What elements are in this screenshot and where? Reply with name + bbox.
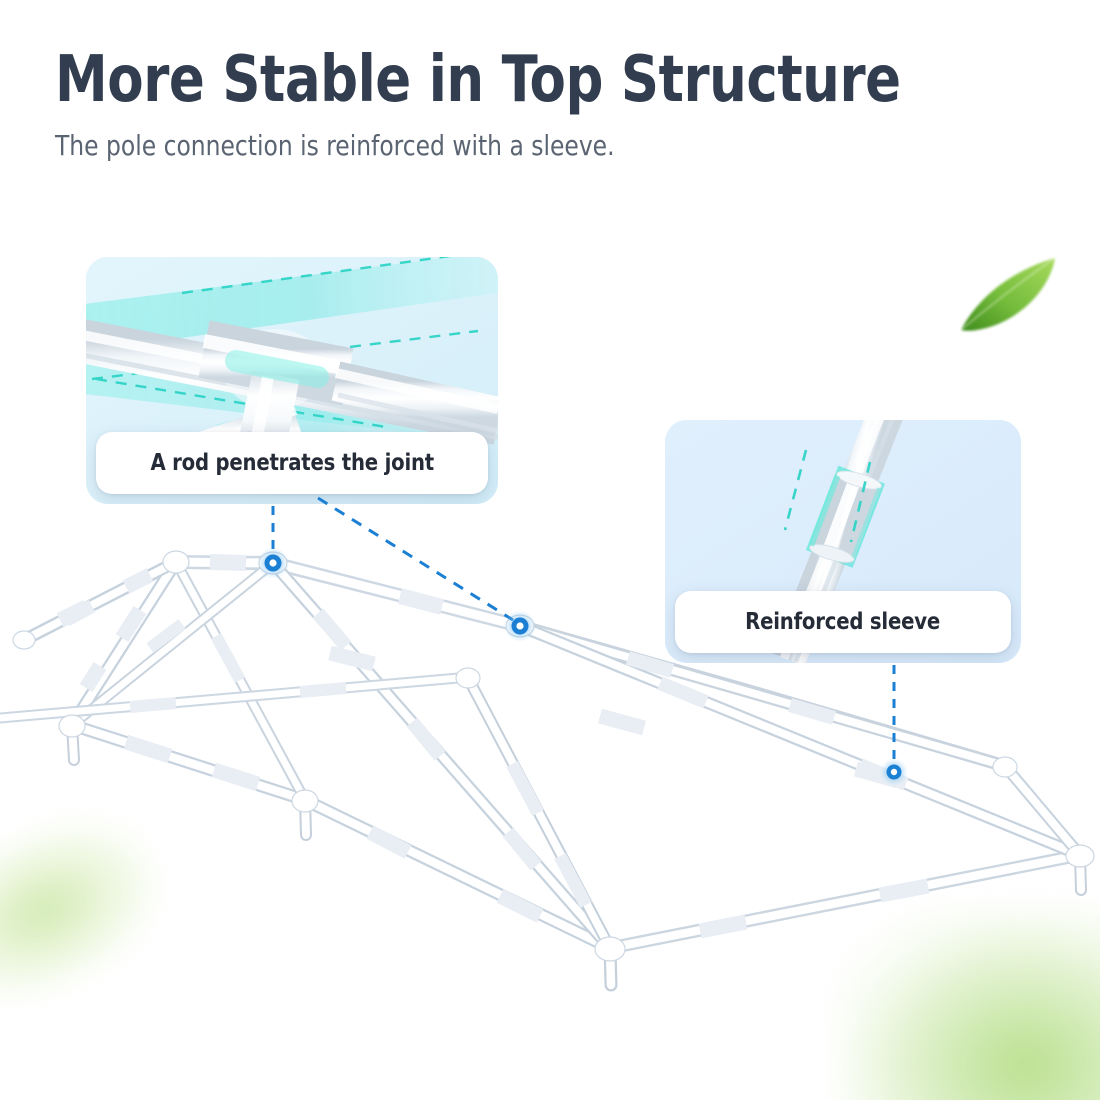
callout-label-sleeve: Reinforced sleeve xyxy=(675,591,1011,653)
page-subtitle: The pole connection is reinforced with a… xyxy=(55,129,948,162)
infographic-canvas: More Stable in Top Structure The pole co… xyxy=(0,0,1100,1100)
callout-card-sleeve[interactable]: Reinforced sleeve xyxy=(665,420,1021,663)
callout-label-joint: A rod penetrates the joint xyxy=(96,432,488,494)
callout-label-sleeve-text: Reinforced sleeve xyxy=(746,609,941,635)
pole-bottom-rail xyxy=(610,855,1080,948)
callout-label-joint-text: A rod penetrates the joint xyxy=(150,450,434,476)
pole-mid-transverse xyxy=(24,626,520,640)
header: More Stable in Top Structure The pole co… xyxy=(55,48,1015,162)
page-title: More Stable in Top Structure xyxy=(55,48,938,113)
callout-card-joint[interactable]: A rod penetrates the joint xyxy=(86,257,498,504)
green-leaf-icon xyxy=(955,250,1065,340)
